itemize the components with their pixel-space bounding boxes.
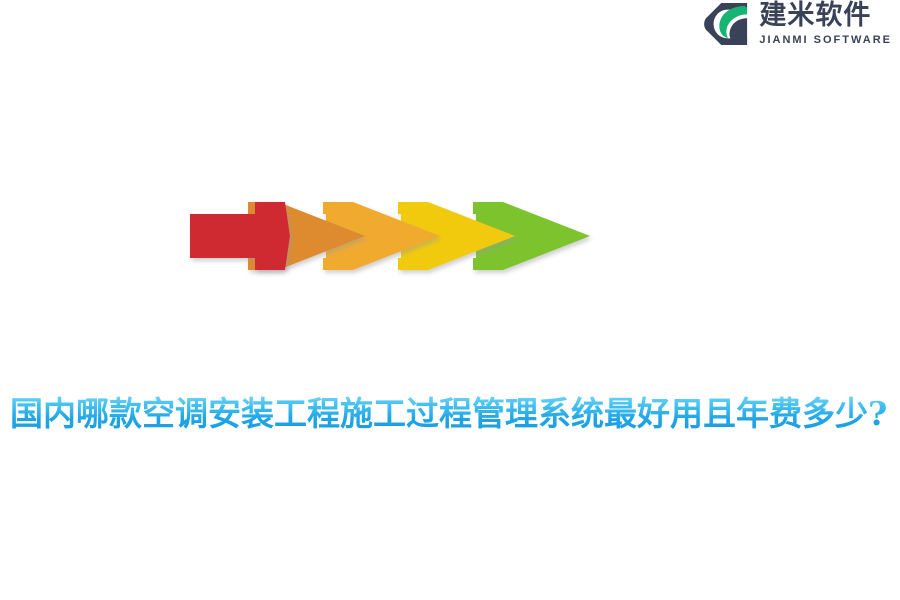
page-title: 国内哪款空调安装工程施工过程管理系统最好用且年费多少? <box>10 393 894 434</box>
brand-name-cn: 建米软件 <box>759 2 892 30</box>
jianmi-leaf-mark-icon <box>703 2 751 46</box>
brand-name-en: JIANMI SOFTWARE <box>759 35 892 46</box>
brand-logo: 建米软件 JIANMI SOFTWARE <box>703 2 892 46</box>
process-chevron-graphic <box>180 188 610 284</box>
brand-text: 建米软件 JIANMI SOFTWARE <box>759 2 892 45</box>
chevron-segment-red <box>190 202 290 270</box>
